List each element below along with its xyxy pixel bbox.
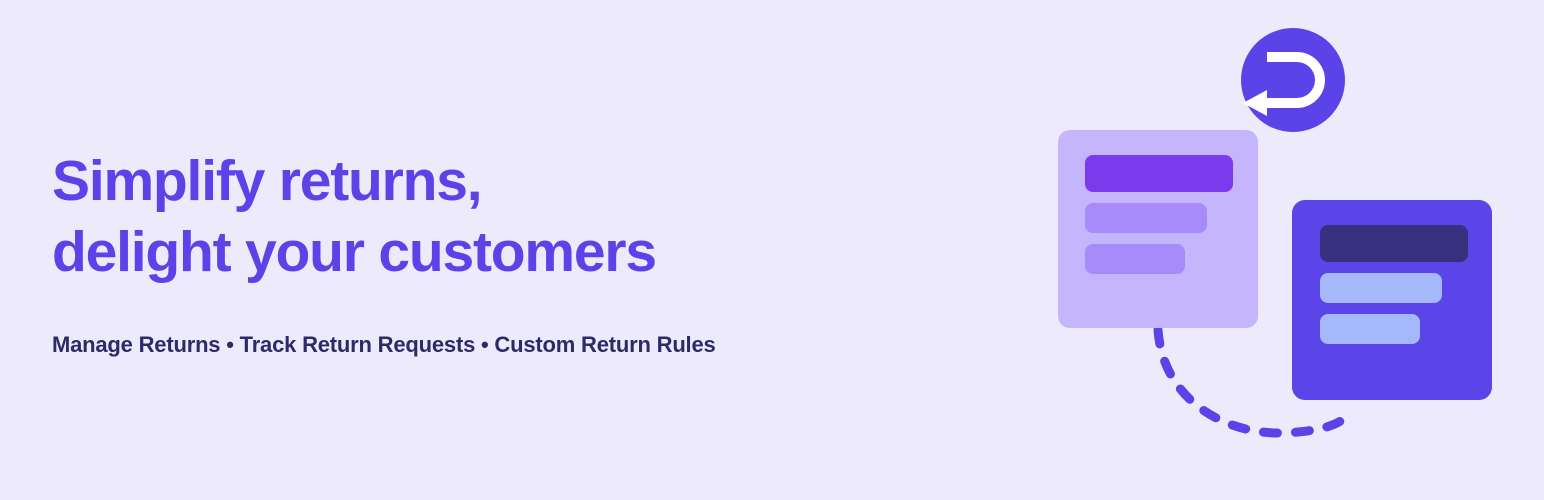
line-bar-1 <box>1320 273 1442 303</box>
return-arrow-badge <box>1241 28 1345 132</box>
line-bar-1 <box>1085 203 1207 233</box>
feature-list: Manage Returns • Track Return Requests •… <box>52 288 952 358</box>
original-order-card <box>1058 130 1258 328</box>
hero-copy: Simplify returns, delight your customers… <box>52 146 952 358</box>
returns-hero-banner: Simplify returns, delight your customers… <box>0 0 1544 500</box>
page-title: Simplify returns, delight your customers <box>52 146 952 288</box>
return-request-card <box>1292 200 1492 400</box>
line-bar-2 <box>1085 244 1185 274</box>
header-bar <box>1320 225 1468 262</box>
header-bar <box>1085 155 1233 192</box>
line-bar-2 <box>1320 314 1420 344</box>
returns-exchange-illustration <box>1035 0 1544 500</box>
